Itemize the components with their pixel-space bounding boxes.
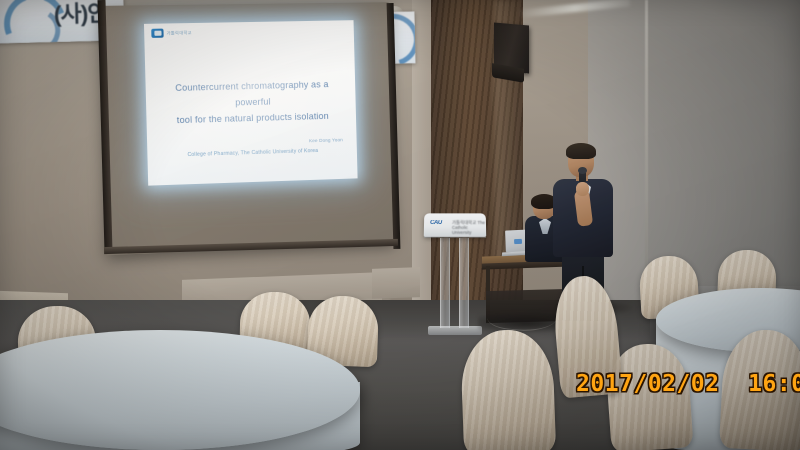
podium-logo-subtext: 가톨릭대학교 The Catholic University (452, 220, 486, 235)
podium-logo-text: CAU (430, 220, 442, 226)
right-wall-far (648, 0, 800, 286)
projected-slide: 가톨릭대학교 Countercurrent chromatography as … (144, 20, 358, 185)
camera-timestamp: 2017/02/02 16:07 (576, 371, 800, 397)
presenter-hair (566, 143, 596, 159)
conference-photo: (사)안 원회 가톨릭대학교 Countercurrent chromatogr… (0, 0, 800, 450)
podium-post-left (440, 238, 450, 328)
university-logo-icon (151, 29, 163, 38)
slide-logo: 가톨릭대학교 (151, 28, 192, 38)
window-blind-right (372, 267, 420, 299)
slide-title: Countercurrent chromatography as a power… (158, 76, 347, 129)
presenter-hand (576, 182, 589, 196)
slide-title-line1: Countercurrent chromatography as a power… (158, 76, 346, 113)
slide-author: Kee Dong Yoon (309, 137, 343, 143)
slide-logo-text: 가톨릭대학교 (167, 30, 192, 37)
podium-base (428, 326, 482, 335)
slide-affiliation: College of Pharmacy, The Catholic Univer… (147, 147, 357, 160)
podium-sign: CAU 가톨릭대학교 The Catholic University (424, 213, 487, 236)
microphone-head-icon (578, 167, 587, 174)
pillar-edge (645, 0, 648, 300)
podium-post-right (459, 238, 469, 328)
